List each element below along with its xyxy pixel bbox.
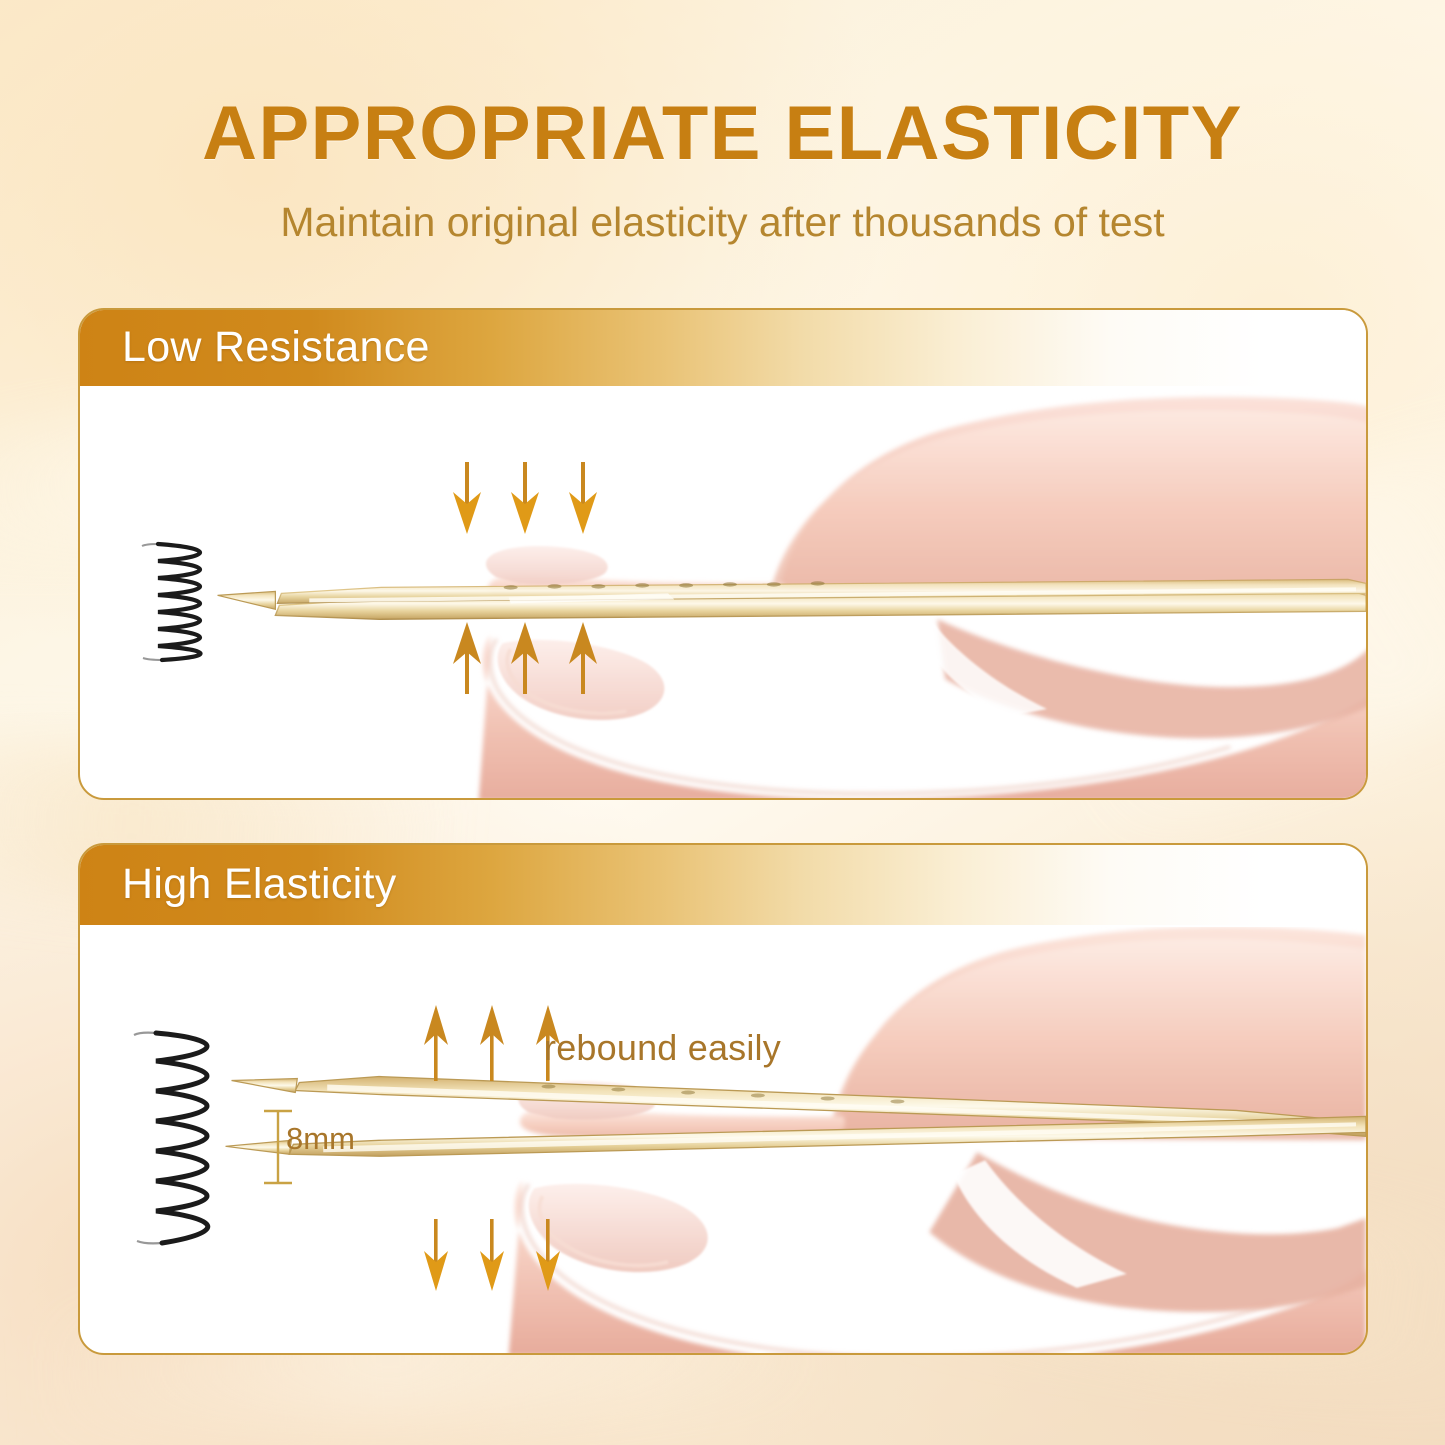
compressed-coil-spring-icon (128, 536, 248, 666)
page-subtitle: Maintain original elasticity after thous… (0, 200, 1445, 245)
arrow-down-icon (420, 1219, 452, 1293)
extended-coil-spring-icon (120, 1023, 260, 1255)
panel-header-high-elasticity: High Elasticity (78, 843, 1368, 925)
arrow-group-up (420, 1003, 564, 1081)
photo-hand-squeezing-tweezers-closed (80, 388, 1366, 800)
panel-header-low-resistance: Low Resistance (78, 308, 1368, 386)
panel-header-label: Low Resistance (122, 323, 430, 372)
arrow-down-icon (450, 462, 484, 536)
arrow-up-icon (476, 1003, 508, 1081)
panel-body-high-elasticity: rebound easily 8mm (80, 927, 1366, 1353)
arrow-group-down (420, 1219, 564, 1293)
arrow-down-icon (476, 1219, 508, 1293)
tweezers-closed (218, 579, 1366, 619)
arrow-up-icon (508, 620, 542, 694)
rebound-annotation-label: rebound easily (544, 1027, 781, 1069)
dimension-label-8mm: 8mm (286, 1121, 355, 1157)
page-heading-block: APPROPRIATE ELASTICITY Maintain original… (0, 0, 1445, 245)
panel-low-resistance: Low Resistance (78, 308, 1368, 800)
arrow-group-up (450, 620, 600, 694)
arrow-up-icon (566, 620, 600, 694)
arrow-up-icon (420, 1003, 452, 1081)
panel-body-low-resistance (80, 388, 1366, 798)
arrow-group-down (450, 462, 600, 536)
panel-header-label: High Elasticity (122, 860, 397, 909)
arrow-down-icon (532, 1219, 564, 1293)
page-title: APPROPRIATE ELASTICITY (0, 96, 1445, 172)
arrow-down-icon (508, 462, 542, 536)
arrow-down-icon (566, 462, 600, 536)
panel-high-elasticity: High Elasticity (78, 843, 1368, 1355)
arrow-up-icon (450, 620, 484, 694)
